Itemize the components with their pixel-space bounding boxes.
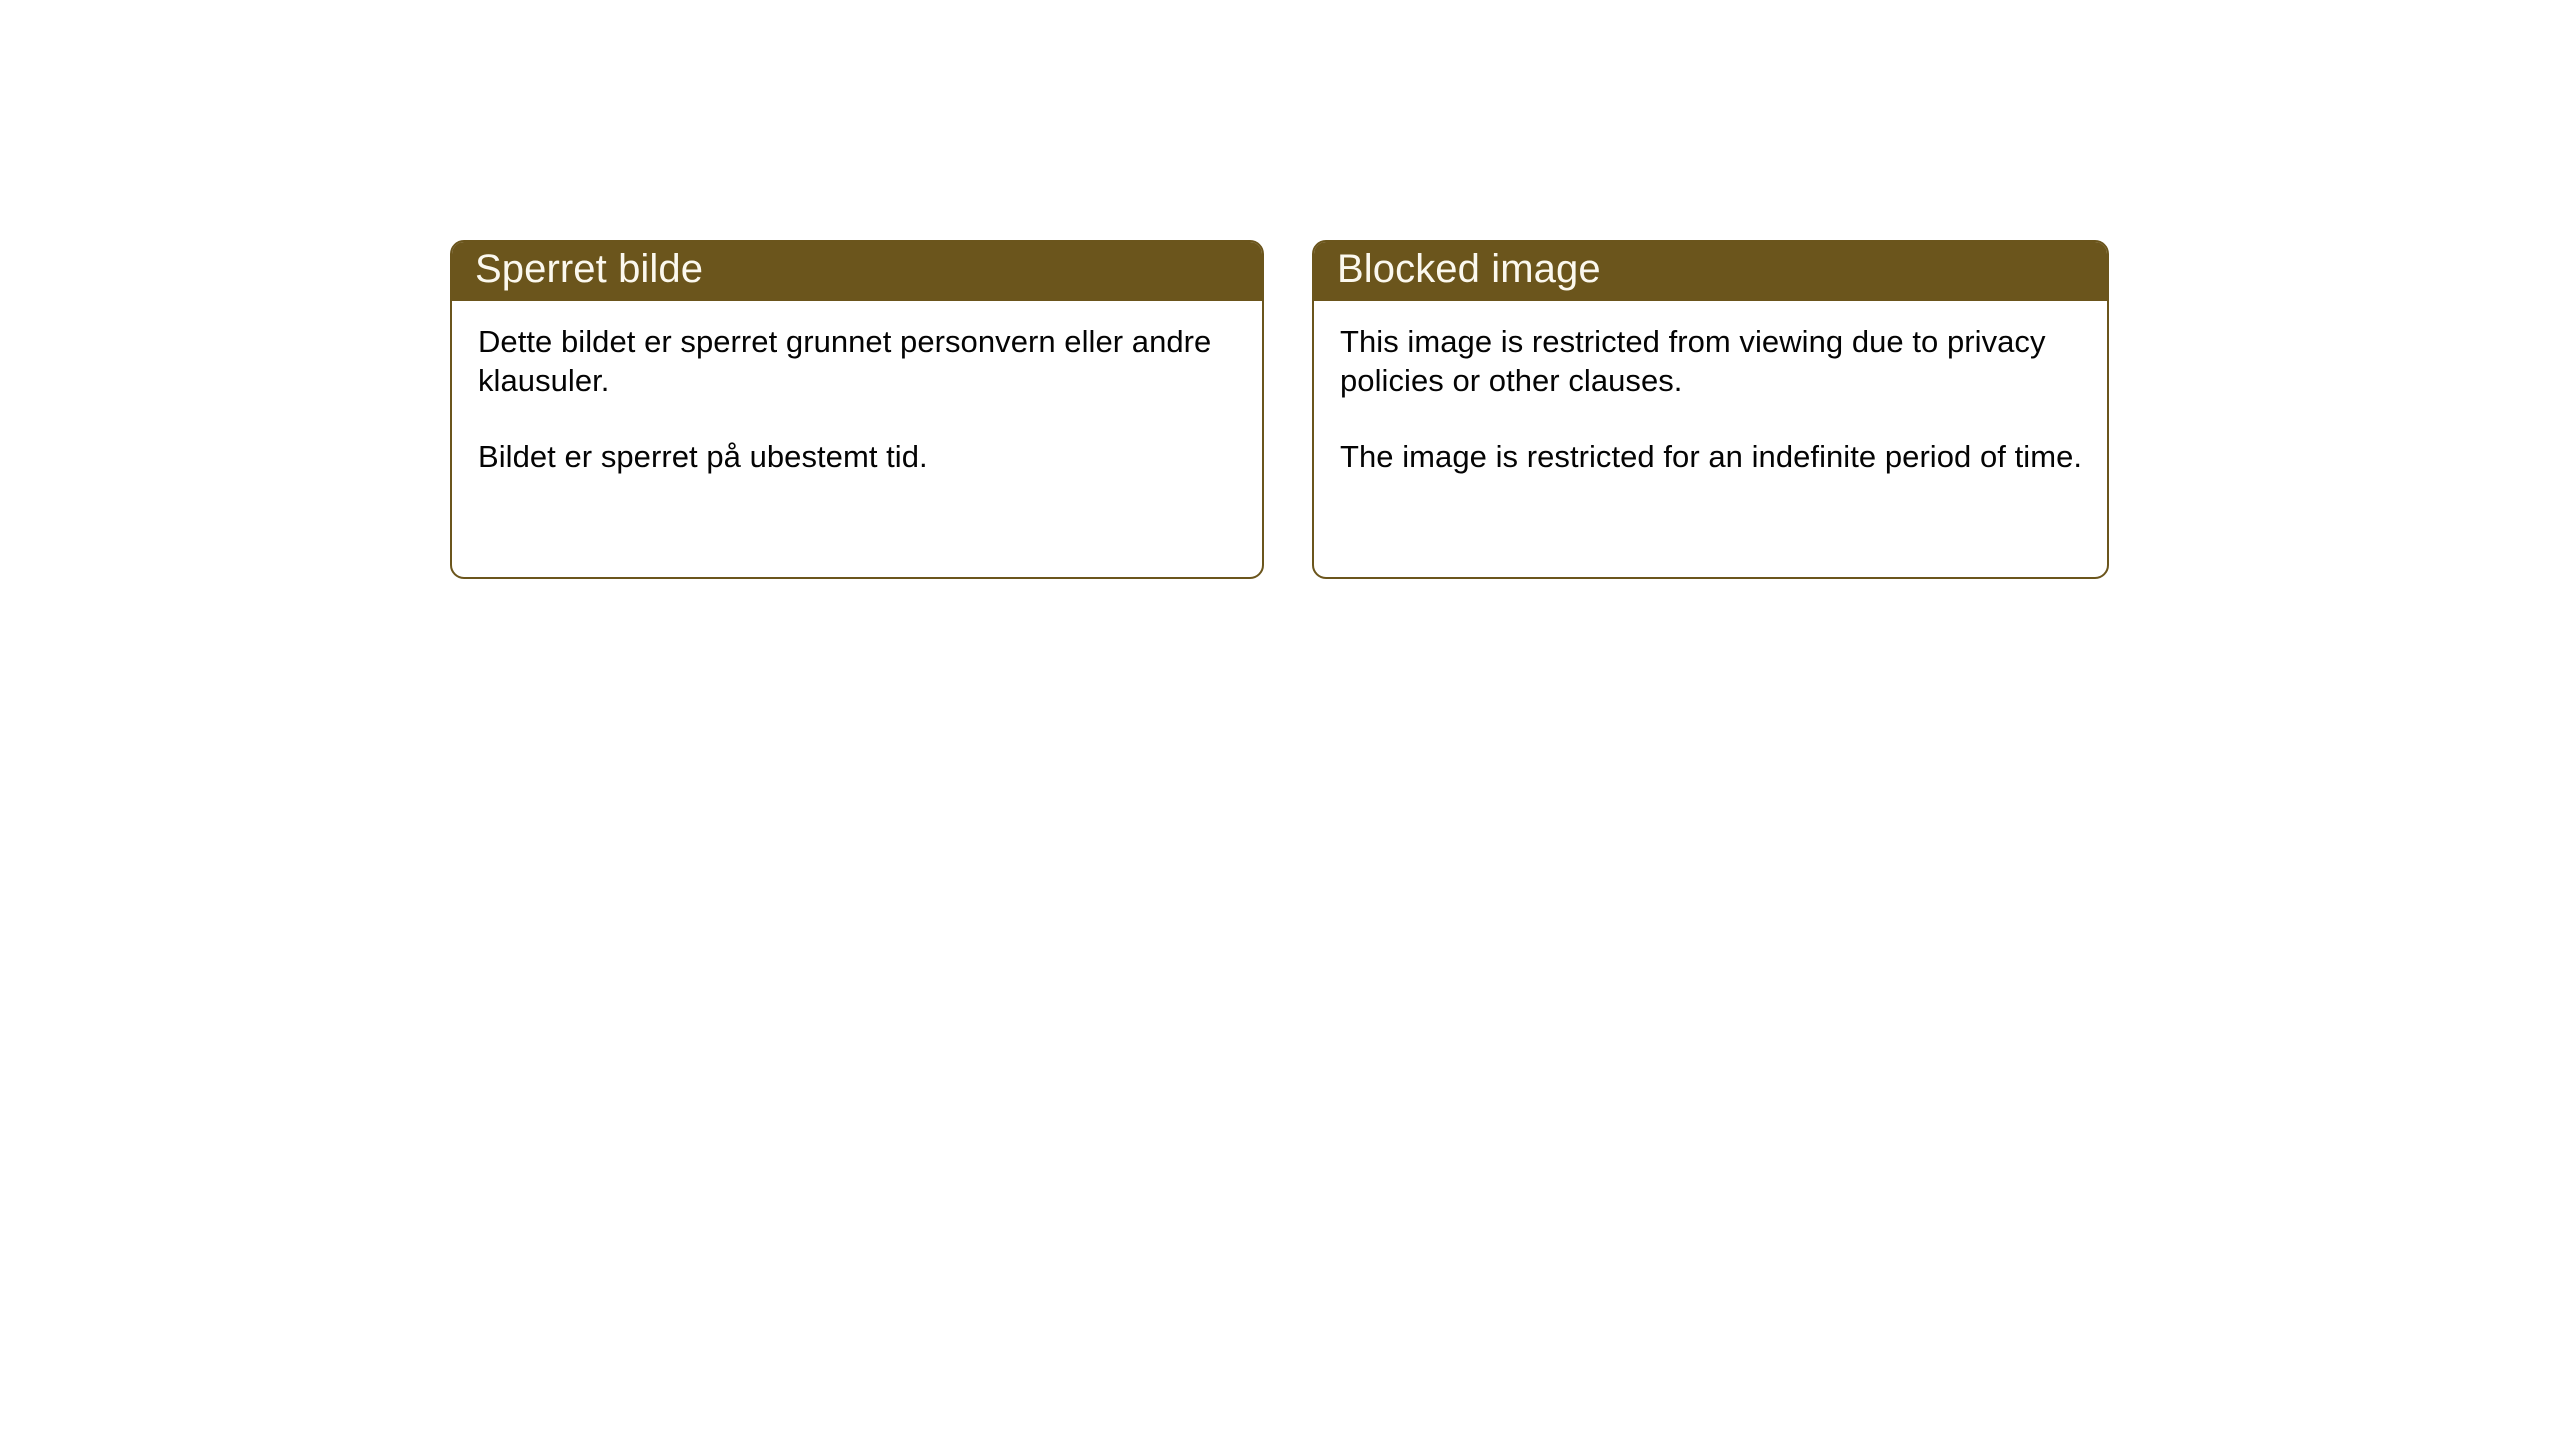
- card-header-norwegian: Sperret bilde: [450, 240, 1264, 301]
- card-paragraph-reason-norwegian: Dette bildet er sperret grunnet personve…: [478, 322, 1240, 400]
- card-paragraph-duration-english: The image is restricted for an indefinit…: [1340, 437, 2085, 476]
- blocked-image-notice-card-english: Blocked image This image is restricted f…: [1312, 240, 2109, 579]
- card-paragraph-duration-norwegian: Bildet er sperret på ubestemt tid.: [478, 437, 1240, 476]
- card-body-english: This image is restricted from viewing du…: [1314, 301, 2107, 477]
- page-canvas: Sperret bilde Dette bildet er sperret gr…: [0, 0, 2560, 1440]
- card-header-english: Blocked image: [1312, 240, 2109, 301]
- card-body-norwegian: Dette bildet er sperret grunnet personve…: [452, 301, 1262, 477]
- blocked-image-notice-card-norwegian: Sperret bilde Dette bildet er sperret gr…: [450, 240, 1264, 579]
- card-title-english: Blocked image: [1337, 249, 1601, 293]
- card-title-norwegian: Sperret bilde: [475, 249, 703, 293]
- card-paragraph-reason-english: This image is restricted from viewing du…: [1340, 322, 2085, 400]
